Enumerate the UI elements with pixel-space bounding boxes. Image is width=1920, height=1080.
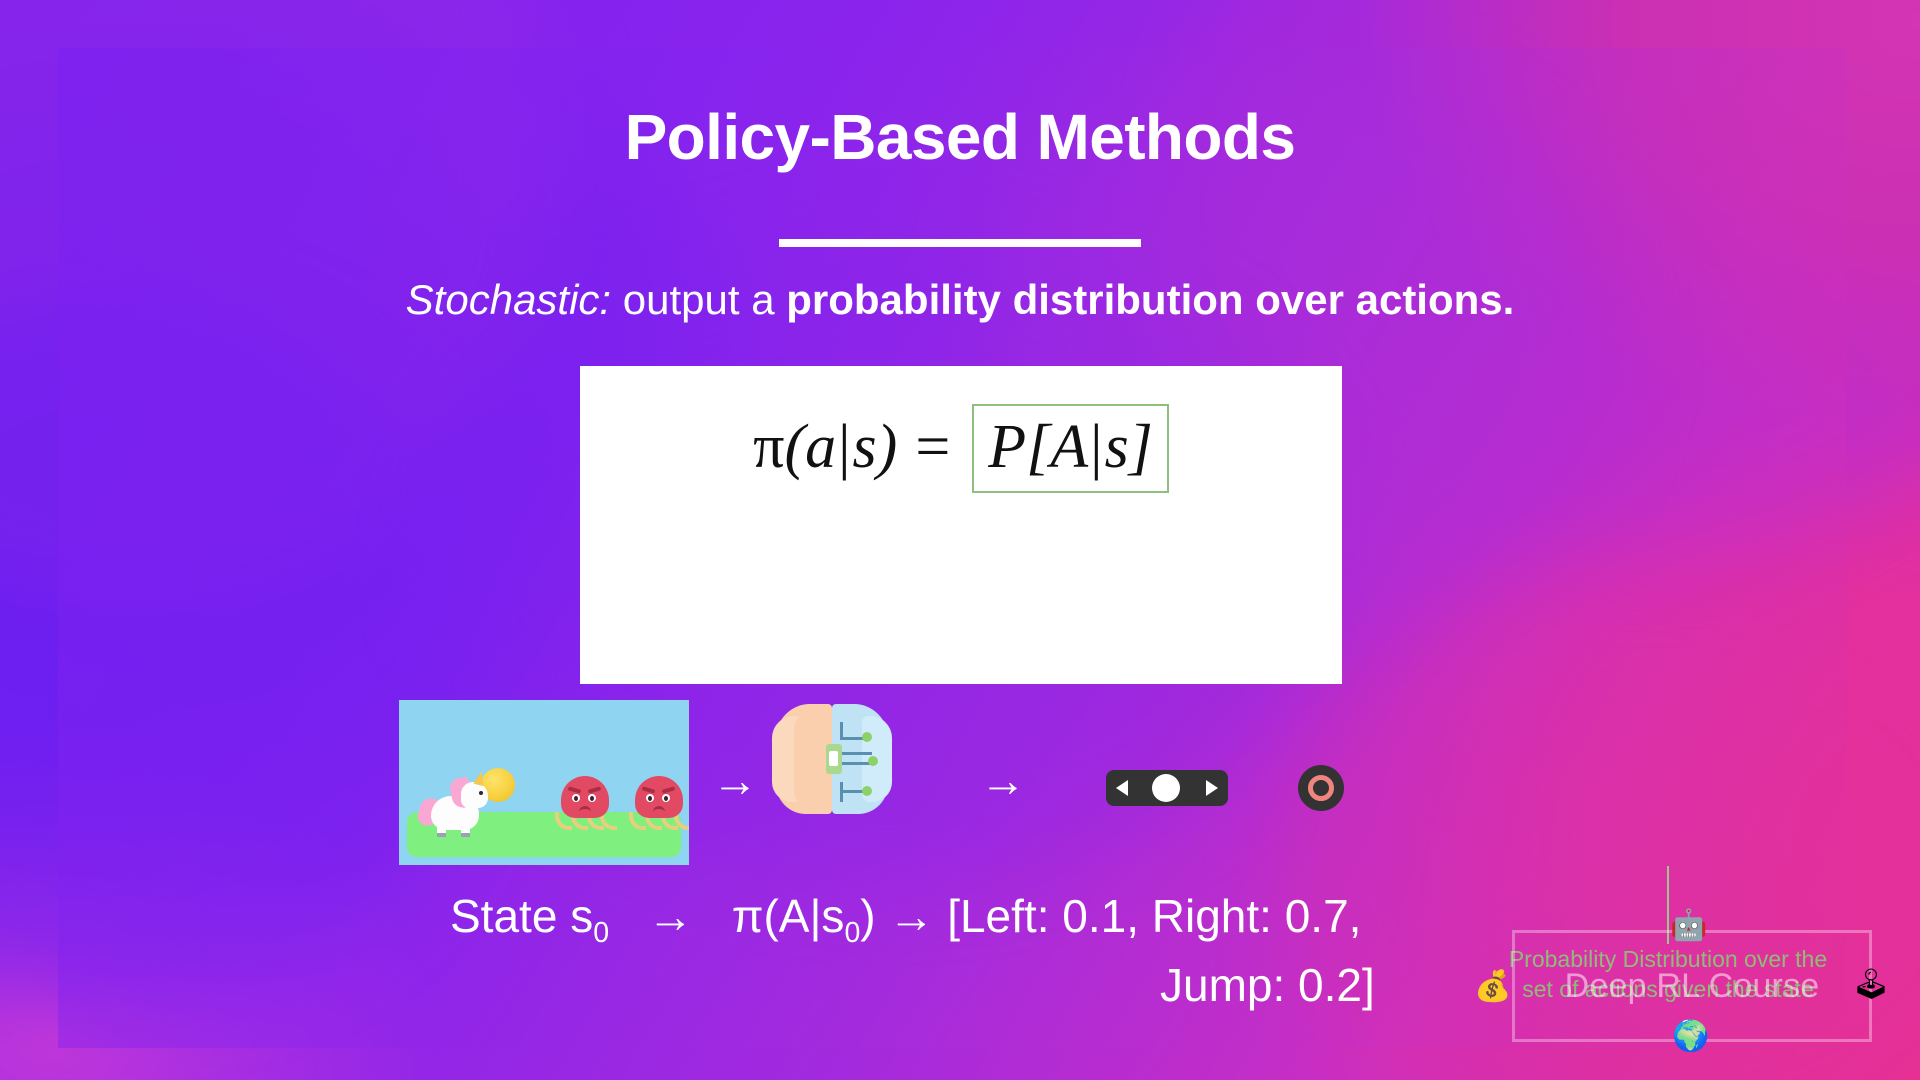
- brain-chip: [826, 744, 842, 774]
- brain-circuit-node: [862, 786, 872, 796]
- unicorn-horn: [473, 770, 486, 786]
- formula-P: P: [988, 413, 1026, 481]
- formula-s: s: [853, 413, 877, 481]
- formula-open-paren: (: [784, 413, 805, 481]
- subtitle-emphasis: Stochastic:: [406, 276, 611, 323]
- dpad-right-arrow-icon[interactable]: [1206, 780, 1218, 796]
- unicorn-character: [417, 772, 493, 838]
- octopus-pupil: [648, 796, 652, 801]
- unicorn-leg-front: [437, 824, 446, 837]
- formula-equals: =: [897, 413, 968, 481]
- formula-boxed-s: s: [1105, 413, 1129, 481]
- brain-left-hemisphere: [776, 704, 832, 814]
- action-button-ring-icon: [1308, 775, 1334, 801]
- formula-open-bracket: [: [1026, 413, 1050, 481]
- action-button[interactable]: [1298, 765, 1344, 811]
- octopus-pupil: [574, 796, 578, 801]
- pipeline-arrow-1-icon: →: [712, 757, 758, 803]
- state-label: State s: [450, 890, 593, 942]
- robot-icon: 🤖: [1670, 911, 1707, 941]
- subtitle-bold: probability distribution over actions.: [786, 276, 1514, 323]
- octopus-mouth: [653, 806, 665, 812]
- globe-icon: 🌍: [1672, 1022, 1709, 1052]
- formula-boxed-bar: |: [1088, 413, 1104, 481]
- octopus-mouth: [579, 806, 591, 812]
- brain-circuit-wire: [842, 790, 864, 793]
- brain-circuit-node: [862, 732, 872, 742]
- octopus-enemy: [555, 776, 615, 838]
- pipeline-arrow-2-icon: →: [980, 757, 1026, 803]
- formula-a: a: [805, 413, 836, 481]
- equation-arrow-2-icon: →: [888, 890, 934, 942]
- policy-subscript: 0: [844, 917, 860, 949]
- formula-boxed-term: P[A|s]: [972, 404, 1169, 493]
- subtitle-plain: output a: [611, 276, 786, 323]
- slide-subtitle: Stochastic: output a probability distrib…: [0, 275, 1920, 325]
- deep-rl-course-watermark: Deep RL Course 🤖 🌍 💰 🕹: [1512, 930, 1872, 1042]
- formula-A: A: [1050, 413, 1088, 481]
- brain-circuit-node: [868, 756, 878, 766]
- joystick-icon: 🕹: [1852, 970, 1890, 1000]
- policy-close: ): [860, 890, 875, 942]
- formula-bar: |: [836, 413, 852, 481]
- money-bag-icon: 💰: [1474, 972, 1511, 1002]
- policy-open: π(A|s: [732, 890, 845, 942]
- equation-arrow-1-icon: →: [647, 890, 693, 942]
- dpad-control[interactable]: [1106, 770, 1228, 806]
- game-scene-thumbnail: [399, 700, 689, 865]
- formula-pi: π: [753, 413, 784, 481]
- dpad-knob[interactable]: [1152, 774, 1180, 802]
- slide-title: Policy-Based Methods: [0, 104, 1920, 171]
- policy-formula: π(a|s)=P[A|s]: [580, 404, 1342, 493]
- state-subscript: 0: [593, 917, 609, 949]
- formula-card: π(a|s)=P[A|s] Probability Distribution o…: [580, 366, 1342, 684]
- distribution-start: [Left: 0.1, Right: 0.7,: [947, 890, 1361, 942]
- brain-circuit-wire: [840, 782, 843, 802]
- dpad-left-arrow-icon[interactable]: [1116, 780, 1128, 796]
- brain-circuit-wire: [842, 752, 872, 755]
- octopus-pupil: [664, 796, 668, 801]
- title-divider: [779, 239, 1141, 247]
- formula-close-paren: ): [877, 413, 898, 481]
- slide-root: Policy-Based Methods Stochastic: output …: [0, 0, 1920, 1080]
- distribution-end: Jump: 0.2]: [1160, 959, 1375, 1011]
- octopus-pupil: [590, 796, 594, 801]
- unicorn-leg-back: [461, 824, 470, 837]
- ai-brain-icon: [776, 704, 888, 814]
- slide-content: Policy-Based Methods Stochastic: output …: [0, 0, 1920, 1080]
- formula-close-bracket: ]: [1129, 413, 1153, 481]
- brain-circuit-wire: [842, 737, 864, 740]
- state-policy-equation-line-1: State s0 → π(A|s0) → [Left: 0.1, Right: …: [450, 888, 1361, 951]
- unicorn-head: [461, 782, 488, 808]
- state-policy-equation-line-2: Jump: 0.2]: [1160, 957, 1375, 1013]
- unicorn-eye: [479, 791, 483, 795]
- octopus-enemy: [629, 776, 689, 838]
